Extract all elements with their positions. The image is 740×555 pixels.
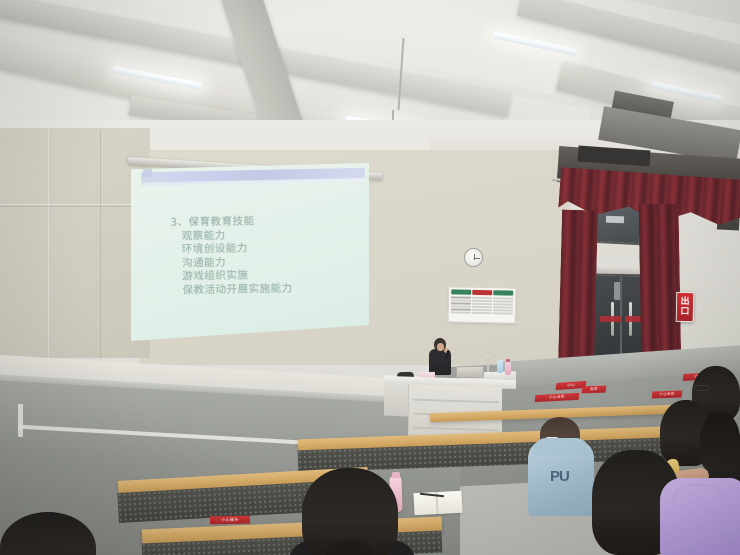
desk-caution-sign: 小心碰头 — [210, 516, 250, 525]
poster-column — [472, 290, 492, 320]
floor-caution-sign: 台阶 — [582, 386, 607, 394]
bottle-cap — [392, 472, 400, 478]
podium-monitor — [456, 366, 484, 378]
poster-column-header — [451, 289, 471, 294]
exit-sign-char-1: 出 — [680, 297, 689, 307]
floor-caution-sign: 小心台阶 — [652, 390, 683, 398]
poster-column — [493, 290, 513, 320]
slide-line: 保教活动开展实施能力 — [182, 281, 361, 298]
microphone-stem — [487, 358, 489, 372]
glasses-icon — [694, 385, 710, 391]
slide-text-block: 3、保育教育技能 观察能力 环境创设能力 沟通能力 游戏组织实施 保教活动开展实… — [170, 213, 361, 298]
door-push-label — [600, 316, 622, 322]
exit-sign: 出 口 — [676, 292, 695, 322]
poster-column — [451, 289, 471, 319]
presenter-face — [437, 343, 444, 351]
projection-screen[interactable]: 3、保育教育技能 观察能力 环境创设能力 沟通能力 游戏组织实施 保教活动开展实… — [131, 163, 369, 341]
wall-seam — [0, 206, 150, 207]
poster-column-body — [493, 296, 513, 320]
exit-sign-char-2: 口 — [680, 307, 689, 317]
transom-reflection — [606, 216, 624, 224]
hoodie-logo: PU — [550, 468, 576, 485]
wall-notice-poster — [448, 286, 517, 323]
wall-clock-icon — [464, 248, 483, 267]
water-bottle — [497, 360, 503, 373]
poster-column-body — [451, 295, 471, 319]
water-bottle — [505, 362, 511, 375]
poster-column-header — [494, 290, 514, 295]
lecture-hall-photo: 3、保育教育技能 观察能力 环境创设能力 沟通能力 游戏组织实施 保教活动开展实… — [0, 0, 740, 555]
clock-minute-hand — [474, 258, 480, 259]
slide-corner-chip — [143, 169, 152, 177]
student-hair — [700, 412, 740, 472]
stage-safety-stripe — [18, 404, 23, 437]
hood — [533, 438, 589, 456]
poster-column-body — [472, 296, 492, 320]
curtain-panel-left — [558, 210, 598, 371]
poster-column-header — [472, 290, 492, 295]
wall-seam — [100, 130, 101, 358]
podium-side-panel — [384, 381, 410, 416]
bottle-cap — [506, 359, 510, 362]
backpack-strap — [672, 484, 724, 506]
